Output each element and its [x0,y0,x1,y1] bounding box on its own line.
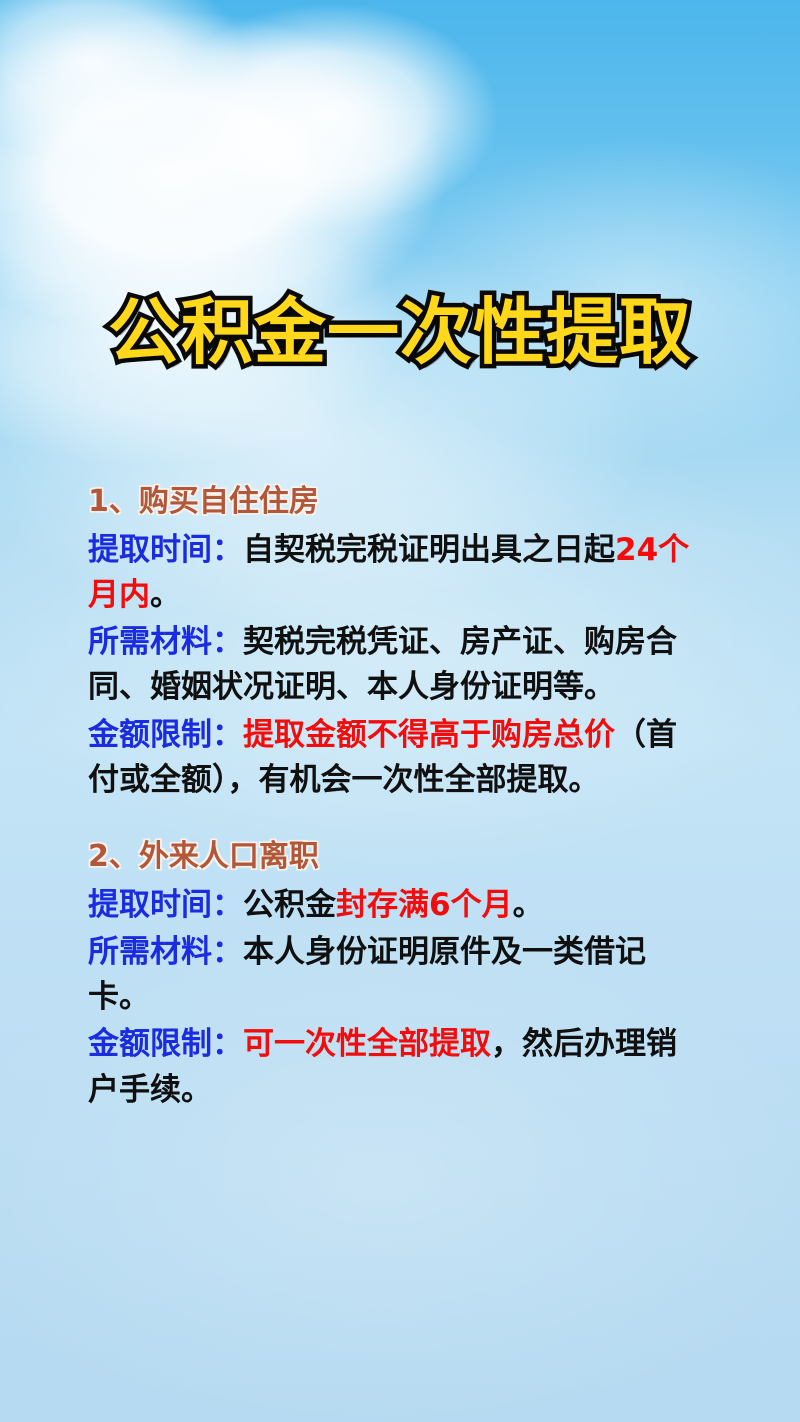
info-row: 所需材料：契税完税凭证、房产证、购房合同、婚姻状况证明、本人身份证明等。 [88,620,700,711]
section-heading: 1、购买自住住房 [88,482,700,522]
info-row: 金额限制：提取金额不得高于购房总价（首付或全额），有机会一次性全部提取。 [88,713,700,804]
info-row: 提取时间：公积金封存满6个月。 [88,883,700,928]
body-text: 公积金 [243,887,336,923]
section-heading: 2、外来人口离职 [88,837,700,877]
info-row-label: 金额限制： [88,717,243,753]
poster-canvas: 公积金一次性提取 1、购买自住住房提取时间：自契税完税证明出具之日起24个月内。… [0,0,800,1422]
title-container: 公积金一次性提取 [0,296,800,368]
body-text: 。 [150,577,181,613]
body-sections: 1、购买自住住房提取时间：自契税完税证明出具之日起24个月内。所需材料：契税完税… [88,482,700,1113]
section-block: 1、购买自住住房提取时间：自契税完税证明出具之日起24个月内。所需材料：契税完税… [88,482,700,803]
body-text: 。 [513,887,544,923]
info-row-label: 所需材料： [88,624,243,660]
body-text: 自契税完税证明出具之日起 [243,532,615,568]
section-block: 2、外来人口离职提取时间：公积金封存满6个月。所需材料：本人身份证明原件及一类借… [88,837,700,1113]
info-row: 所需材料：本人身份证明原件及一类借记卡。 [88,930,700,1021]
highlighted-text: 封存满6个月 [336,887,513,923]
page-title: 公积金一次性提取 [108,296,692,368]
highlighted-text: 提取金额不得高于购房总价 [243,717,615,753]
info-row-label: 金额限制： [88,1026,243,1062]
info-row: 提取时间：自契税完税证明出具之日起24个月内。 [88,528,700,619]
info-row-label: 提取时间： [88,887,243,923]
highlighted-text: 可一次性全部提取 [243,1026,491,1062]
info-row: 金额限制：可一次性全部提取，然后办理销户手续。 [88,1022,700,1113]
info-row-label: 所需材料： [88,934,243,970]
info-row-label: 提取时间： [88,532,243,568]
